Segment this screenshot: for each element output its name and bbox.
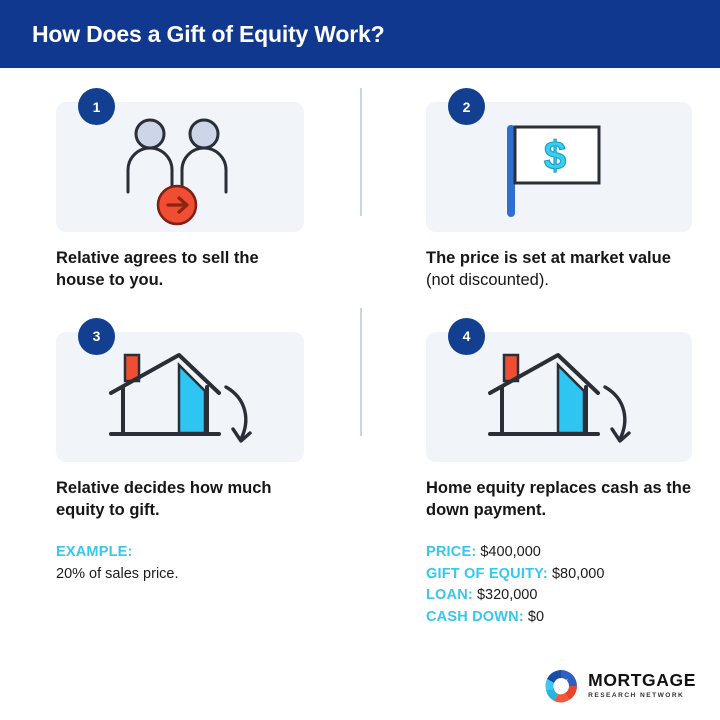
step-4-number-badge: 4 <box>448 318 485 355</box>
step-2-text-light: (not discounted). <box>426 271 549 289</box>
step-2-text: The price is set at market value (not di… <box>426 248 692 292</box>
step-2-number-badge: 2 <box>448 88 485 125</box>
detail-value-price: $400,000 <box>476 544 541 560</box>
step-4-details: PRICE: $400,000 GIFT OF EQUITY: $80,000 … <box>426 542 692 629</box>
steps-container: 1 <box>0 68 720 629</box>
step-3-example: EXAMPLE: 20% of sales price. <box>56 542 304 586</box>
step-1-card-wrap: 1 <box>56 102 304 232</box>
step-2-text-bold: The price is set at market value <box>426 249 671 267</box>
detail-value-loan: $320,000 <box>473 587 538 603</box>
header-bar: How Does a Gift of Equity Work? <box>0 0 720 68</box>
example-value: 20% of sales price. <box>56 564 304 586</box>
logo-text: MORTGAGE RESEARCH NETWORK <box>588 672 696 699</box>
detail-label-gift-of-equity: GIFT OF EQUITY: <box>426 566 548 582</box>
step-1-number-badge: 1 <box>78 88 115 125</box>
step-2-card-wrap: 2 $ <box>426 102 692 232</box>
detail-label-cash-down: CASH DOWN: <box>426 609 524 625</box>
detail-row-price: PRICE: $400,000 <box>426 542 692 564</box>
step-3-number-badge: 3 <box>78 318 115 355</box>
step-1-text: Relative agrees to sell the house to you… <box>56 248 304 292</box>
example-label: EXAMPLE: <box>56 542 304 564</box>
step-3-card-wrap: 3 <box>56 332 304 462</box>
detail-value-cash-down: $0 <box>524 609 544 625</box>
page-title: How Does a Gift of Equity Work? <box>32 21 384 48</box>
svg-text:$: $ <box>544 134 566 178</box>
footer-logo: MORTGAGE RESEARCH NETWORK <box>543 668 696 704</box>
detail-row-loan: LOAN: $320,000 <box>426 585 692 607</box>
steps-row-bottom: 3 <box>0 324 720 629</box>
detail-label-price: PRICE: <box>426 544 476 560</box>
detail-row-gift-of-equity: GIFT OF EQUITY: $80,000 <box>426 564 692 586</box>
step-3-text: Relative decides how much equity to gift… <box>56 478 304 522</box>
step-1-text-bold: Relative agrees to sell the house to you… <box>56 249 259 289</box>
step-3-text-bold: Relative decides how much equity to gift… <box>56 479 271 519</box>
step-4-text: Home equity replaces cash as the down pa… <box>426 478 692 522</box>
infographic-root: How Does a Gift of Equity Work? 1 <box>0 0 720 720</box>
step-4: 4 Home equity repla <box>360 324 720 629</box>
logo-sub-text: RESEARCH NETWORK <box>588 693 696 700</box>
step-4-card-wrap: 4 <box>426 332 692 462</box>
house-equity-arrow-icon <box>95 341 265 453</box>
flag-dollar-icon: $ <box>489 111 629 223</box>
detail-label-loan: LOAN: <box>426 587 473 603</box>
mortgage-research-network-gauge-logo <box>543 668 579 704</box>
detail-row-cash-down: CASH DOWN: $0 <box>426 607 692 629</box>
house-equity-arrow-icon <box>474 341 644 453</box>
step-3: 3 <box>0 324 360 629</box>
step-1: 1 <box>0 94 360 292</box>
logo-main-text: MORTGAGE <box>588 672 696 690</box>
two-people-handoff-icon <box>100 108 260 226</box>
detail-value-gift-of-equity: $80,000 <box>548 566 604 582</box>
step-2: 2 $ The price is set at market valu <box>360 94 720 292</box>
step-4-text-bold: Home equity replaces cash as the down pa… <box>426 479 691 519</box>
steps-row-top: 1 <box>0 94 720 292</box>
